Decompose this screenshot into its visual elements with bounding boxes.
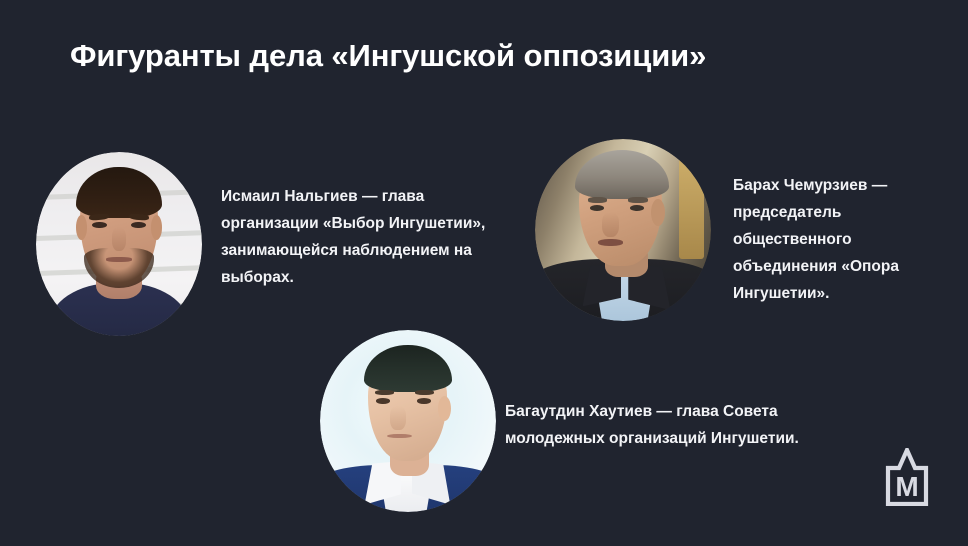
portrait-photo-nalgiev: [36, 152, 202, 336]
person-caption-chemurziev: Барах Чемурзиев — председатель обществен…: [733, 172, 948, 307]
portrait-photo-khautiev: [320, 330, 496, 512]
person-caption-nalgiev: Исмаил Нальгиев — глава организации «Выб…: [221, 183, 521, 291]
photo-ear-right: [151, 215, 163, 241]
photo-eye-right: [417, 398, 431, 403]
photo-eye-left: [92, 222, 106, 228]
photo-mouth: [598, 239, 623, 246]
photo-eyebrow-left: [375, 390, 394, 395]
photo-nose: [602, 212, 620, 237]
photo-eyebrow-right: [628, 197, 647, 202]
portrait-image-khautiev: [320, 330, 496, 512]
photo-mouth: [106, 257, 133, 262]
portrait-image-nalgiev: [36, 152, 202, 336]
photo-eye-right: [131, 222, 145, 228]
portrait-photo-chemurziev: [535, 139, 711, 321]
mediazona-logo-icon: M: [883, 448, 931, 506]
photo-backdrop-frame: [679, 154, 704, 260]
photo-eye-left: [376, 398, 390, 403]
slide-canvas: Фигуранты дела «Ингушской оппозиции»: [0, 0, 968, 546]
photo-nose: [390, 406, 406, 430]
photo-ear-right: [438, 396, 451, 421]
person-caption-khautiev: Багаутдин Хаутиев — глава Совета молодеж…: [505, 398, 850, 452]
page-title: Фигуранты дела «Ингушской оппозиции»: [70, 38, 706, 74]
photo-eyebrow-right: [415, 390, 434, 395]
portrait-image-chemurziev: [535, 139, 711, 321]
logo-letter: M: [895, 471, 918, 502]
photo-eyebrow-left: [588, 197, 607, 202]
